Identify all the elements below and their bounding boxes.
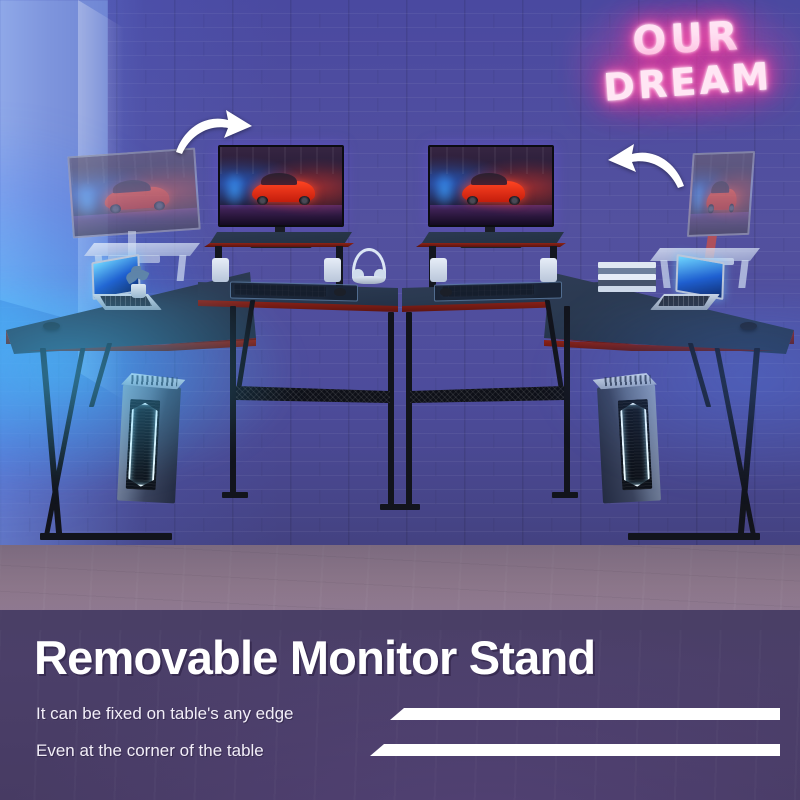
car-wheel [299,196,310,205]
car-wheel [257,196,268,205]
banner-subtitle-line1: It can be fixed on table's any edge [36,704,293,724]
neon-sign: OUR DREAM [579,12,796,116]
desk-leg-left-inner-foot [392,504,420,510]
speaker-left-2 [324,258,341,282]
screen-car [252,181,315,201]
book [598,286,656,292]
screen-floor [689,212,749,235]
desk-leg-right-front [388,312,394,508]
desk-leg-left-foot [40,533,172,540]
ghost-monitor-left [67,148,200,239]
ghost-monitor-screen-right [687,151,755,237]
mouse-right [440,288,452,296]
screen-floor [220,205,342,225]
speaker-right [430,258,447,282]
screen-car [462,181,525,201]
ghost-monitor-right [687,151,755,237]
desk-leg-left-inner-right [406,312,412,508]
car-wheel [467,196,478,205]
desk-leg-right-foot [628,533,760,540]
car-wheel [728,203,734,213]
led-glow-desk-right [540,300,800,490]
arrow-left-setup [172,108,260,160]
monitor-stand-edge-left [204,243,354,247]
plant-leaf [131,266,141,277]
speaker-right-2 [540,258,557,282]
monitor-screen-right [428,145,554,227]
arrow-right-setup [600,142,688,194]
mouse-left [334,288,346,296]
headphone-stand-left [352,248,386,278]
car-wheel [708,204,714,214]
car-wheel [153,200,165,210]
banner-subtitle-line2: Even at the corner of the table [36,741,264,761]
book-stack-right [598,262,656,292]
monitor-right [428,145,554,227]
banner-accent-bar-1 [390,708,780,720]
car-wheel [509,196,520,205]
screen-blue-light [432,170,456,209]
banner-accent-bar-2 [370,744,780,756]
headphone-stand-base-left [353,276,385,284]
screen-car [706,189,738,211]
desk-leg-mid-foot [222,492,248,498]
ghost-monitor-screen [67,148,200,239]
screen-floor [430,205,552,225]
speaker-left [212,258,229,282]
monitor-stand-edge-right [416,243,566,247]
bottom-banner: Removable Monitor Stand It can be fixed … [0,610,800,800]
led-glow-desk-left [0,290,300,490]
banner-fade [0,610,800,630]
screen-car [104,186,170,211]
screen-blue-light [222,170,246,209]
desk-leg-mid-right-foot [552,492,578,498]
product-marketing-image: OUR DREAM [0,0,800,800]
mousepad-right [434,281,562,301]
banner-headline: Removable Monitor Stand [34,630,595,685]
